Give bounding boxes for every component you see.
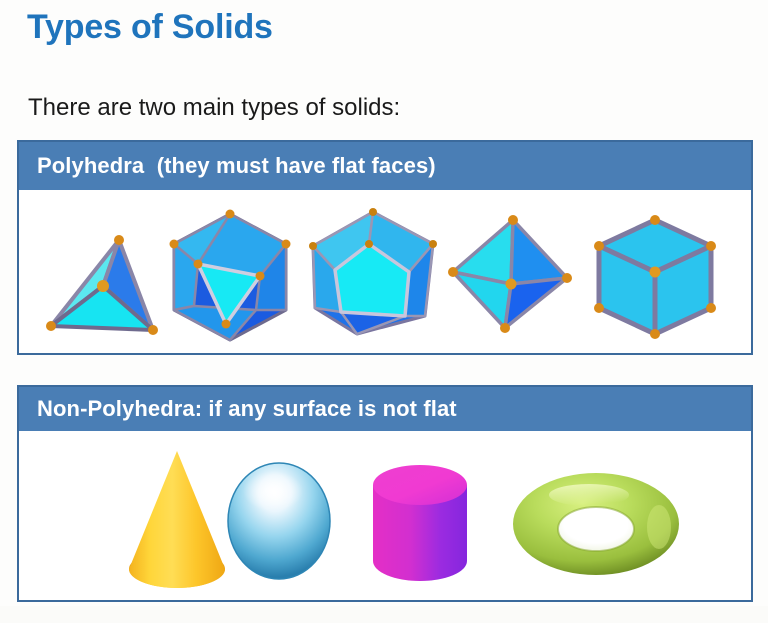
section-header-label-polyhedra: Polyhedra (they must have flat faces): [37, 153, 436, 179]
section-header-label-non-polyhedra: Non-Polyhedra: if any surface is not fla…: [37, 396, 457, 422]
shape-torus: [511, 471, 681, 577]
slide-bottom-edge: [0, 606, 768, 623]
section-polyhedra: Polyhedra (they must have flat faces): [17, 140, 753, 355]
section-body-polyhedra: [19, 190, 751, 353]
shape-sphere: [219, 457, 339, 585]
shape-octahedron: [447, 216, 575, 332]
section-body-non-polyhedra: [19, 431, 751, 600]
shape-icosahedron: [164, 206, 296, 348]
intro-text: There are two main types of solids:: [28, 94, 400, 122]
shape-dodecahedron: [305, 208, 441, 340]
shape-tetrahedron: [41, 218, 171, 343]
shape-cylinder: [363, 461, 477, 585]
page-title: Types of Solids: [27, 8, 273, 47]
section-non-polyhedra: Non-Polyhedra: if any surface is not fla…: [17, 385, 753, 602]
section-header-non-polyhedra: Non-Polyhedra: if any surface is not fla…: [19, 387, 751, 431]
section-header-polyhedra: Polyhedra (they must have flat faces): [19, 142, 751, 190]
shape-cube: [589, 210, 725, 342]
